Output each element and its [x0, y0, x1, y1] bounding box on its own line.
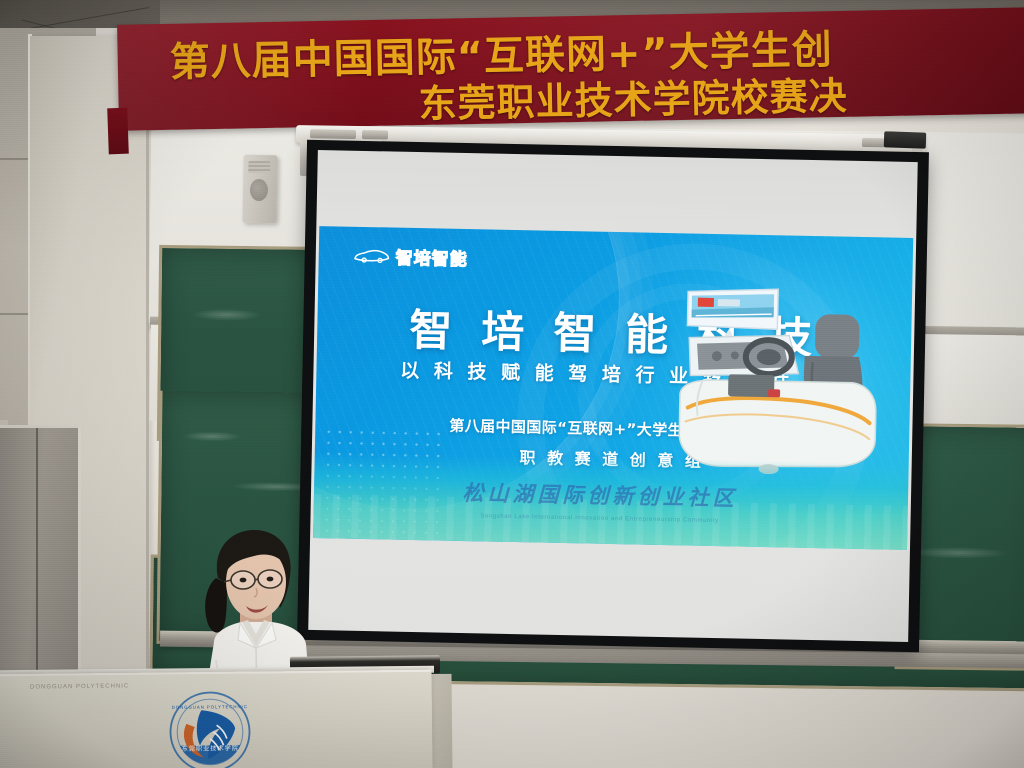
school-emblem-icon: DONGGUAN POLYTECHNIC 东莞职业技术学院: [168, 690, 253, 768]
slide-watermark-cn: 松山湖国际创新创业社区: [440, 477, 761, 513]
presentation-slide: 智培智能 智 培 智 能 科 技 以 科 技 赋 能 驾 培 行 业 转 型 升…: [313, 226, 913, 550]
projection-screen-frame: 智培智能 智 培 智 能 科 技 以 科 技 赋 能 驾 培 行 业 转 型 升…: [297, 140, 929, 652]
emblem-english-text: DONGGUAN POLYTECHNIC: [172, 704, 248, 710]
projection-screen-surface: 智培智能 智 培 智 能 科 技 以 科 技 赋 能 驾 培 行 业 转 型 升…: [308, 150, 918, 642]
podium-brand-text: DONGGUAN POLYTECHNIC: [30, 683, 129, 690]
ceiling-projector-icon: [884, 131, 927, 148]
banner-fold: [107, 108, 129, 155]
slide-logo-text: 智培智能: [396, 244, 468, 270]
presentation-photo-scene: 第八届中国国际“互联网+”大学生创 东莞职业技术学院校赛决: [0, 0, 1024, 768]
car-outline-icon: [353, 248, 391, 264]
slide-brand-lockup: 智培智能: [353, 243, 468, 270]
event-banner: 第八届中国国际“互联网+”大学生创 东莞职业技术学院校赛决: [117, 7, 1024, 131]
wall-speaker-icon: [242, 155, 277, 224]
